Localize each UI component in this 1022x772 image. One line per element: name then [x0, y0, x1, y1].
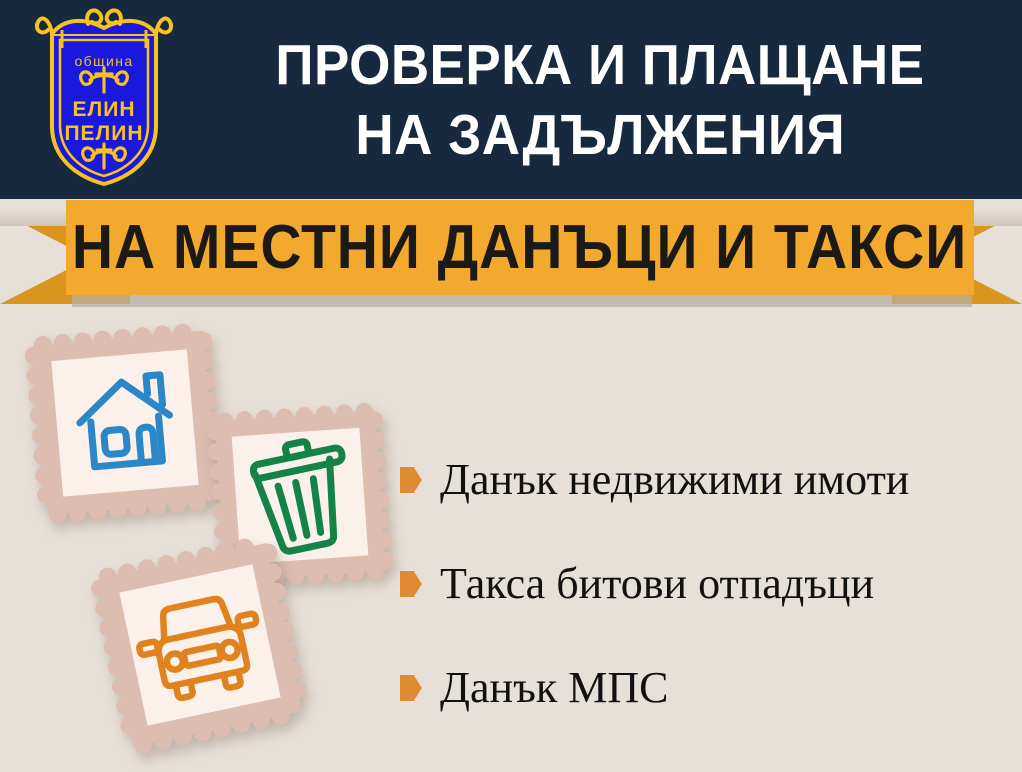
- subtitle-ribbon: НА МЕСТНИ ДАНЪЦИ И ТАКСИ: [0, 198, 1022, 310]
- list-item-label: Данък недвижими имоти: [440, 458, 909, 502]
- ribbon-band: НА МЕСТНИ ДАНЪЦИ И ТАКСИ: [66, 200, 974, 295]
- list-item-label: Данък МПС: [440, 666, 668, 710]
- ribbon-label: НА МЕСТНИ ДАНЪЦИ И ТАКСИ: [72, 212, 967, 283]
- page-title-line-1: ПРОВЕРКА И ПЛАЩАНЕ: [275, 31, 924, 101]
- list-item[interactable]: Данък МПС: [400, 636, 1020, 740]
- arrow-marker-icon: [400, 571, 422, 597]
- page-title: ПРОВЕРКА И ПЛАЩАНЕ НА ЗАДЪЛЖЕНИЯ: [190, 18, 1010, 183]
- poster-canvas: община ЕЛИН ПЕЛИН ПРОВЕРКА И П: [0, 0, 1022, 772]
- list-item[interactable]: Данък недвижими имоти: [400, 428, 1020, 532]
- stamp-vehicle-tax: [88, 533, 312, 757]
- list-item[interactable]: Такса битови отпадъци: [400, 532, 1020, 636]
- ribbon-shadow: [72, 294, 972, 307]
- list-item-label: Такса битови отпадъци: [440, 562, 874, 606]
- tax-type-list: Данък недвижими имоти Такса битови отпад…: [400, 428, 1020, 740]
- municipality-coat-of-arms: община ЕЛИН ПЕЛИН: [28, 4, 180, 192]
- arrow-marker-icon: [400, 467, 422, 493]
- crest-name-line2: ПЕЛИН: [64, 122, 143, 145]
- crest-name-line1: ЕЛИН: [72, 98, 135, 121]
- page-title-line-2: НА ЗАДЪЛЖЕНИЯ: [355, 101, 845, 171]
- arrow-marker-icon: [400, 675, 422, 701]
